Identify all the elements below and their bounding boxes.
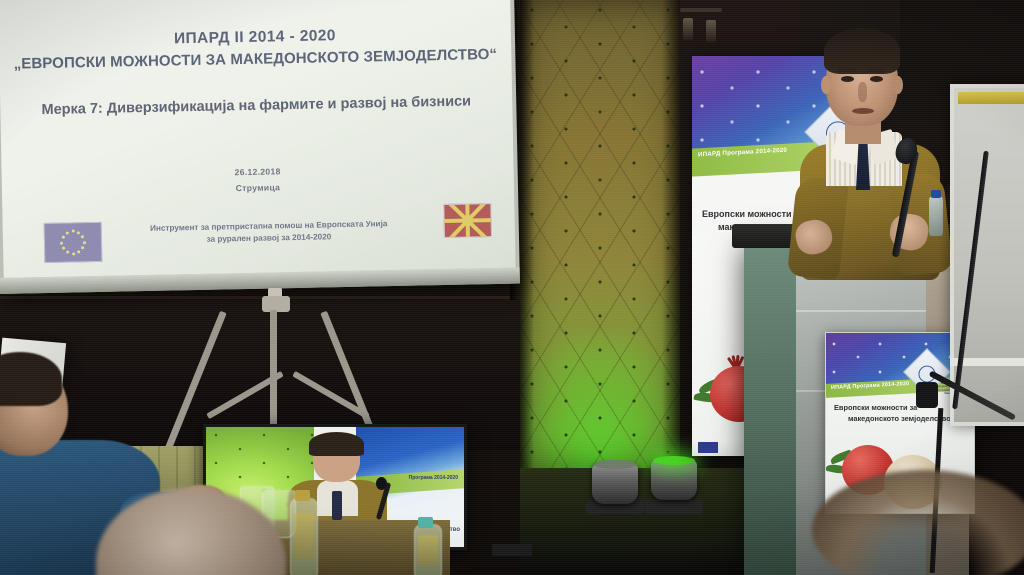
speaker-ear-right	[893, 76, 903, 94]
tv-monitor-stand	[492, 544, 532, 556]
water-bottle-cap-center	[295, 490, 310, 501]
speaker-presenter	[790, 28, 960, 278]
banner-footer-eu-logo	[698, 442, 718, 453]
wall-bracket-rod	[680, 8, 722, 12]
speaker-eye-left	[841, 76, 854, 82]
tv-feed-speaker-hair	[309, 432, 365, 457]
wallpaper-shadow-right	[662, 0, 680, 468]
water-bottle-label-center	[294, 513, 314, 559]
wallpaper-star-pattern	[520, 0, 680, 468]
macedonia-flag-icon	[443, 203, 492, 238]
podium-poster-headline: Европски можности за македонското земјод…	[834, 403, 966, 424]
water-bottle-right	[414, 524, 442, 575]
speaker-eye-right	[870, 76, 883, 82]
tv-feed-program-label: Програма 2014-2020	[409, 475, 458, 481]
tv-feed-speaker-tie	[332, 491, 341, 520]
flipchart-clip-bar	[958, 92, 1024, 104]
speaker-hair	[824, 28, 900, 74]
podium-poster-headline-line1: Европски можности за	[834, 403, 966, 414]
wallpaper-shadow-left	[520, 0, 534, 468]
projection-screen: ИПАРД II 2014 - 2020 „ЕВРОПСКИ МОЖНОСТИ …	[0, 0, 520, 294]
conference-photo: ИПАРД II 2014 - 2020 „ЕВРОПСКИ МОЖНОСТИ …	[0, 0, 1024, 575]
water-bottle-cap-podium	[931, 190, 941, 198]
speaker-ear-left	[821, 76, 831, 94]
wall-sconce-right	[706, 20, 716, 42]
uplight-base-right	[645, 500, 703, 514]
eu-flag-stars	[45, 223, 102, 262]
water-bottle-cap-right	[418, 517, 433, 528]
water-bottle-podium	[929, 196, 943, 236]
slide-city: Струмица	[2, 178, 514, 198]
stage-floor-reflection	[520, 468, 770, 575]
eu-flag-icon	[44, 222, 103, 263]
uplight-lens-left	[594, 460, 636, 469]
slide-measure-line: Мерка 7: Диверзификација на фармите и ра…	[0, 93, 512, 119]
speaker-nose	[858, 82, 867, 102]
macedonia-flag-rays	[444, 204, 490, 205]
water-bottle-center	[290, 498, 318, 575]
projection-screen-surface: ИПАРД II 2014 - 2020 „ЕВРОПСКИ МОЖНОСТИ …	[0, 0, 516, 278]
podium-green-side-panel	[744, 238, 796, 575]
podium-poster-headline-line2: македонското земјоделство	[834, 414, 966, 425]
uplight-lens-right	[653, 456, 695, 465]
wall-sconce-left	[683, 18, 693, 40]
wall-panel-seam	[0, 296, 520, 299]
presentation-slide: ИПАРД II 2014 - 2020 „ЕВРОПСКИ МОЖНОСТИ …	[0, 0, 515, 262]
slide-footer: Инструмент за претпристапна помош на Евр…	[113, 217, 425, 247]
stage-uplight-left	[592, 464, 638, 504]
patterned-wallpaper-column	[520, 0, 680, 468]
stage-uplight-right	[651, 460, 697, 500]
speaker-mouth	[852, 108, 874, 114]
water-bottle-label-right	[418, 535, 438, 565]
mic-stand-clamp	[916, 382, 938, 408]
